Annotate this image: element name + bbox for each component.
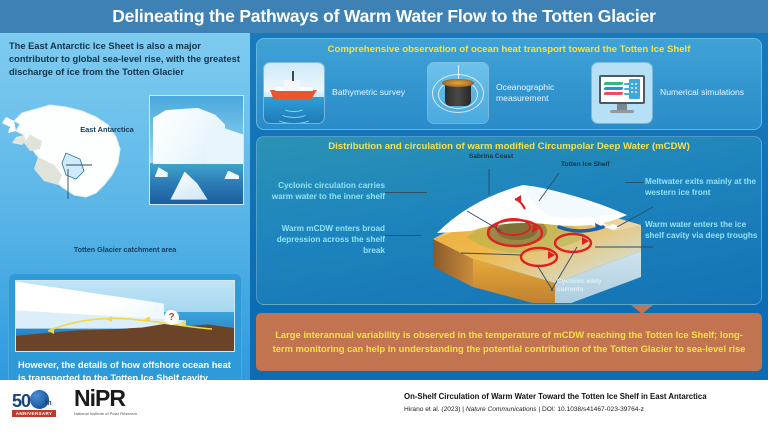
key-message-box: Large interannual variability is observe…: [256, 313, 762, 371]
infographic-poster: Delineating the Pathways of Warm Water F…: [0, 0, 768, 432]
page-title: Delineating the Pathways of Warm Water F…: [112, 6, 656, 27]
left-column: The East Antarctic Ice Sheet is also a m…: [0, 33, 250, 380]
diagram-label-totten-ice-shelf: Totten Ice Shelf: [561, 161, 641, 169]
computer-simulation-icon: [591, 62, 653, 124]
question-mark-badge: ?: [164, 310, 179, 325]
citation-sep-1: |: [462, 406, 464, 413]
monitor-base: [610, 110, 634, 113]
layer-green: [604, 82, 624, 85]
diagram-label-cyclonic-eddy: Cyclonic eddy currents: [557, 278, 627, 294]
ship-superstructure: [284, 80, 300, 91]
monitor-stand: [617, 104, 627, 110]
lead-paragraph: The East Antarctic Ice Sheet is also a m…: [9, 40, 241, 80]
circulation-panel-heading: Distribution and circulation of warm mod…: [257, 141, 761, 152]
mooring-instrument-icon: [427, 62, 489, 124]
research-ship-icon: [263, 62, 325, 124]
ship-hull: [270, 90, 317, 100]
ice-cliff-photo: [149, 95, 244, 205]
circulation-panel: Distribution and circulation of warm mod…: [256, 136, 762, 305]
nipr-name: NiPR: [74, 387, 137, 410]
monitor-panel-chart: [629, 79, 640, 98]
footer: 50 th ANNIVERSARY NiPR National Institut…: [0, 380, 768, 432]
annotation-warm-mcdw: Warm mCDW enters broad depression across…: [263, 224, 385, 257]
annotation-cyclonic-circulation: Cyclonic circulation carries warm water …: [263, 181, 385, 203]
observation-panel-heading: Comprehensive observation of ocean heat …: [257, 44, 761, 55]
observation-item-numerical: Numerical simulations: [591, 62, 755, 124]
observation-panel: Comprehensive observation of ocean heat …: [256, 38, 762, 130]
monitor-screen: [599, 75, 646, 104]
paper-title: On-Shelf Circulation of Warm Water Towar…: [404, 392, 756, 401]
sonar-wave-3: [276, 112, 312, 124]
block-diagram: [427, 155, 677, 303]
anniversary-number: 50: [12, 391, 30, 412]
antarctica-map: East Antarctica: [0, 91, 150, 213]
anniversary-logo: 50 th ANNIVERSARY: [12, 389, 74, 419]
anniversary-word: ANNIVERSARY: [12, 410, 56, 417]
observation-label-oceanographic: Oceanographic measurement: [496, 82, 591, 104]
citation-sep-2: |: [538, 406, 540, 413]
anniversary-suffix: th: [45, 400, 52, 407]
citation-authors: Hirano et al. (2023): [404, 406, 460, 413]
layer-blue: [604, 87, 624, 90]
observation-label-bathymetric: Bathymetric survey: [332, 87, 405, 98]
diagram-label-sabrina-coast: Sabrina Coast: [453, 153, 529, 161]
map-label-east-antarctica: East Antarctica: [78, 125, 136, 134]
citation-details: Hirano et al. (2023) | Nature Communicat…: [404, 406, 756, 413]
antarctica-map-svg: [0, 91, 150, 213]
map-label-catchment: Totten Glacier catchment area: [50, 245, 200, 254]
layer-red: [604, 92, 624, 95]
observation-item-bathymetric: Bathymetric survey: [263, 62, 427, 124]
title-bar: Delineating the Pathways of Warm Water F…: [0, 0, 768, 33]
nipr-subtitle: National Institute of Polar Research: [74, 412, 137, 416]
key-message-text: Large interannual variability is observe…: [271, 328, 747, 355]
citation-doi: DOI: 10.1038/s41467-023-39764-z: [542, 406, 644, 413]
observation-label-numerical: Numerical simulations: [660, 87, 744, 98]
ship-mast: [292, 71, 294, 81]
observation-item-oceanographic: Oceanographic measurement: [427, 62, 591, 124]
nipr-logo: NiPR National Institute of Polar Researc…: [74, 387, 137, 416]
right-column: Comprehensive observation of ocean heat …: [250, 33, 768, 380]
cs-flow-arrows: [16, 281, 235, 352]
leader-line-mcdw: [385, 235, 421, 236]
citation-journal: Nature Communications: [466, 406, 537, 413]
observation-items: Bathymetric survey Oceanographic measure…: [263, 61, 757, 125]
citation: On-Shelf Circulation of Warm Water Towar…: [404, 392, 756, 413]
block-diagram-svg: [427, 155, 677, 303]
cross-section-illustration: ?: [15, 280, 235, 352]
leader-line-cyclonic: [385, 192, 427, 193]
mooring-top-sensor: [442, 79, 473, 87]
